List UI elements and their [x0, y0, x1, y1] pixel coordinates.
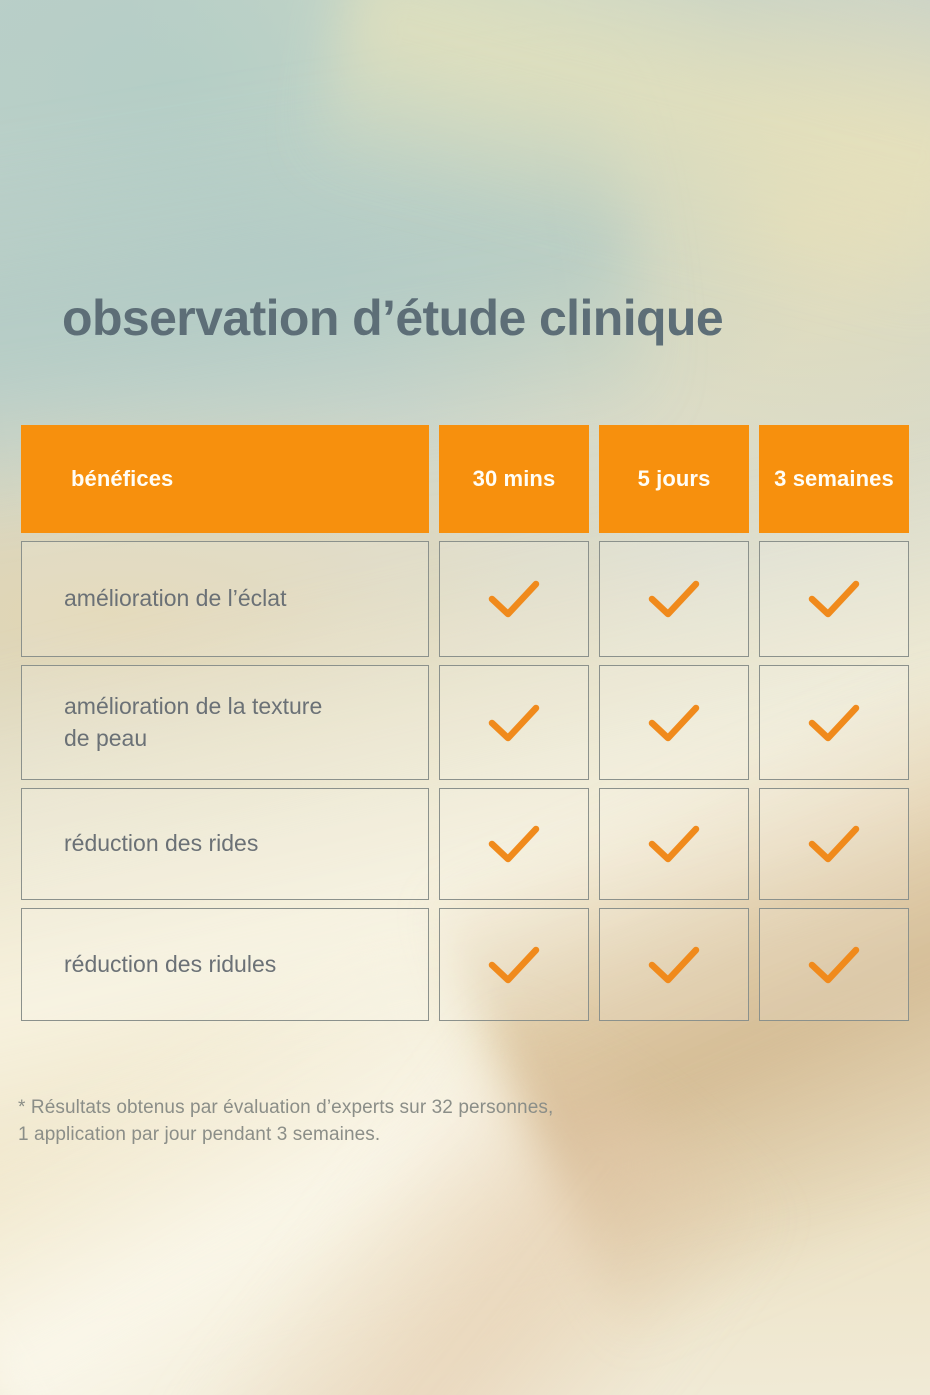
benefit-label: réduction des ridules [21, 908, 429, 1021]
check-icon [646, 701, 702, 745]
cell-3-semaines [759, 908, 909, 1021]
study-footnote: * Résultats obtenus par évaluation d’exp… [18, 1095, 553, 1149]
benefit-label: amélioration de l’éclat [21, 541, 429, 657]
column-header-30-mins: 30 mins [439, 425, 589, 533]
check-icon [806, 701, 862, 745]
cell-30-mins [439, 908, 589, 1021]
check-icon [486, 943, 542, 987]
cell-5-jours [599, 788, 749, 900]
cell-3-semaines [759, 665, 909, 780]
column-header-3-semaines: 3 semaines [759, 425, 909, 533]
check-icon [646, 577, 702, 621]
cell-30-mins [439, 541, 589, 657]
benefits-table: bénéfices 30 mins 5 jours 3 semaines amé… [21, 425, 910, 1029]
check-icon [806, 943, 862, 987]
table-row: réduction des ridules [21, 908, 910, 1021]
check-icon [486, 701, 542, 745]
clinical-study-panel: observation d’étude clinique bénéfices 3… [0, 0, 930, 1395]
benefit-label: amélioration de la texture de peau [21, 665, 429, 780]
table-row: réduction des rides [21, 788, 910, 900]
column-header-5-jours: 5 jours [599, 425, 749, 533]
table-row: amélioration de l’éclat [21, 541, 910, 657]
cell-5-jours [599, 665, 749, 780]
check-icon [486, 822, 542, 866]
cell-3-semaines [759, 541, 909, 657]
cell-5-jours [599, 541, 749, 657]
check-icon [806, 577, 862, 621]
cell-30-mins [439, 665, 589, 780]
cell-5-jours [599, 908, 749, 1021]
check-icon [646, 943, 702, 987]
benefit-label: réduction des rides [21, 788, 429, 900]
check-icon [806, 822, 862, 866]
table-row: amélioration de la texture de peau [21, 665, 910, 780]
check-icon [486, 577, 542, 621]
column-header-benefits: bénéfices [21, 425, 429, 533]
cell-3-semaines [759, 788, 909, 900]
check-icon [646, 822, 702, 866]
cell-30-mins [439, 788, 589, 900]
table-header-row: bénéfices 30 mins 5 jours 3 semaines [21, 425, 910, 533]
page-title: observation d’étude clinique [62, 289, 723, 347]
